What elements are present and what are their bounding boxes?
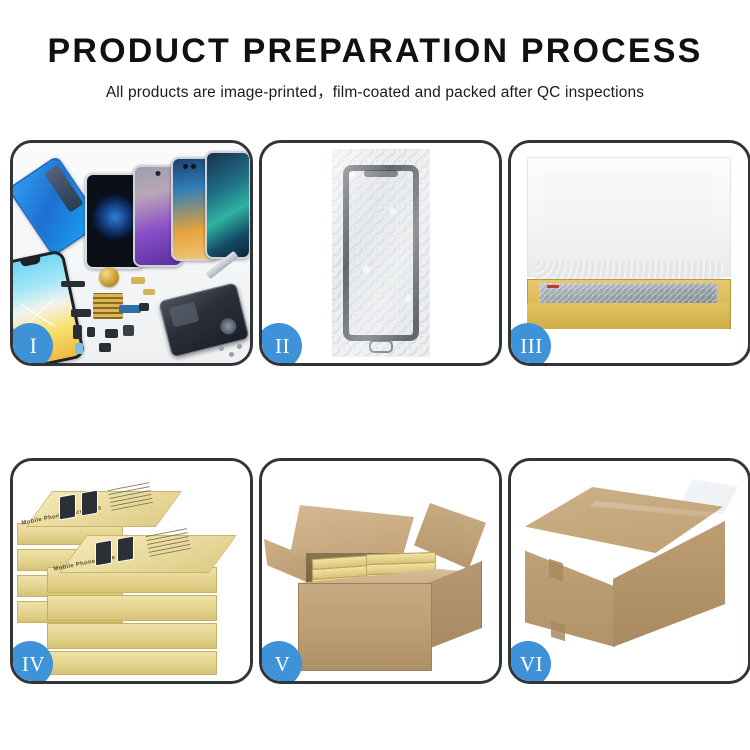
step-2-image (262, 143, 499, 363)
step-panel-1: I (10, 140, 253, 366)
step-5-image (262, 461, 499, 681)
box-art-screen-icon (59, 494, 76, 521)
home-button-icon (369, 340, 393, 353)
red-label-icon (547, 285, 559, 288)
bubble-film-wrap-icon (332, 149, 430, 357)
kraft-box-front-face (527, 303, 729, 329)
box-art-screen-icon (81, 490, 98, 517)
page-title: PRODUCT PREPARATION PROCESS (0, 34, 750, 70)
product-preparation-infographic: PRODUCT PREPARATION PROCESS All products… (0, 0, 750, 750)
step-4-image: Mobile Phone Spare Parts Mobile Phone Sp… (13, 461, 250, 681)
box-stack-group: Mobile Phone Spare Parts Mobile Phone Sp… (17, 471, 249, 676)
component-icon (87, 327, 95, 337)
screw-icon (219, 346, 224, 351)
step-6-image (511, 461, 748, 681)
top-box-lid (26, 491, 182, 527)
step-3-image (511, 143, 748, 363)
step-badge-5: V (259, 641, 302, 684)
step-badge-3: III (508, 323, 551, 366)
screw-icon (237, 344, 242, 349)
step-panel-2: II (259, 140, 502, 366)
component-icon (123, 325, 134, 336)
step-1-image (13, 143, 250, 363)
box-art-screen-icon (95, 540, 112, 567)
component-icon (105, 329, 118, 338)
stacked-box (47, 595, 217, 621)
step-badge-4: IV (10, 641, 53, 684)
header: PRODUCT PREPARATION PROCESS All products… (0, 0, 750, 102)
step-badge-2: II (259, 323, 302, 366)
phone-screen-outline-icon (343, 165, 419, 341)
component-icon (131, 277, 145, 284)
wave-wallpaper-phone-icon (205, 151, 250, 259)
screw-icon (229, 352, 234, 357)
step-panel-4: Mobile Phone Spare Parts Mobile Phone Sp… (10, 458, 253, 684)
steps-grid: I II (10, 140, 740, 682)
page-subtitle: All products are image-printed，film-coat… (0, 80, 750, 102)
component-icon (119, 305, 141, 313)
component-icon (73, 325, 82, 339)
step-panel-3: III (508, 140, 750, 366)
step-panel-5: V (259, 458, 502, 684)
component-icon (71, 309, 91, 317)
carton-front-face (298, 583, 432, 671)
component-icon (75, 343, 83, 354)
component-icon (61, 281, 85, 287)
box-art-screen-icon (117, 536, 134, 563)
step-badge-6: VI (508, 641, 551, 684)
component-icon (143, 289, 155, 295)
step-panel-6: VI (508, 458, 750, 684)
gold-coil-part-icon (99, 267, 119, 287)
stacked-box (47, 651, 217, 675)
step-badge-1: I (10, 323, 53, 366)
stacked-box (47, 623, 217, 649)
box-lid-inner-face (545, 171, 711, 269)
component-icon (99, 343, 111, 352)
component-icon (139, 303, 149, 311)
